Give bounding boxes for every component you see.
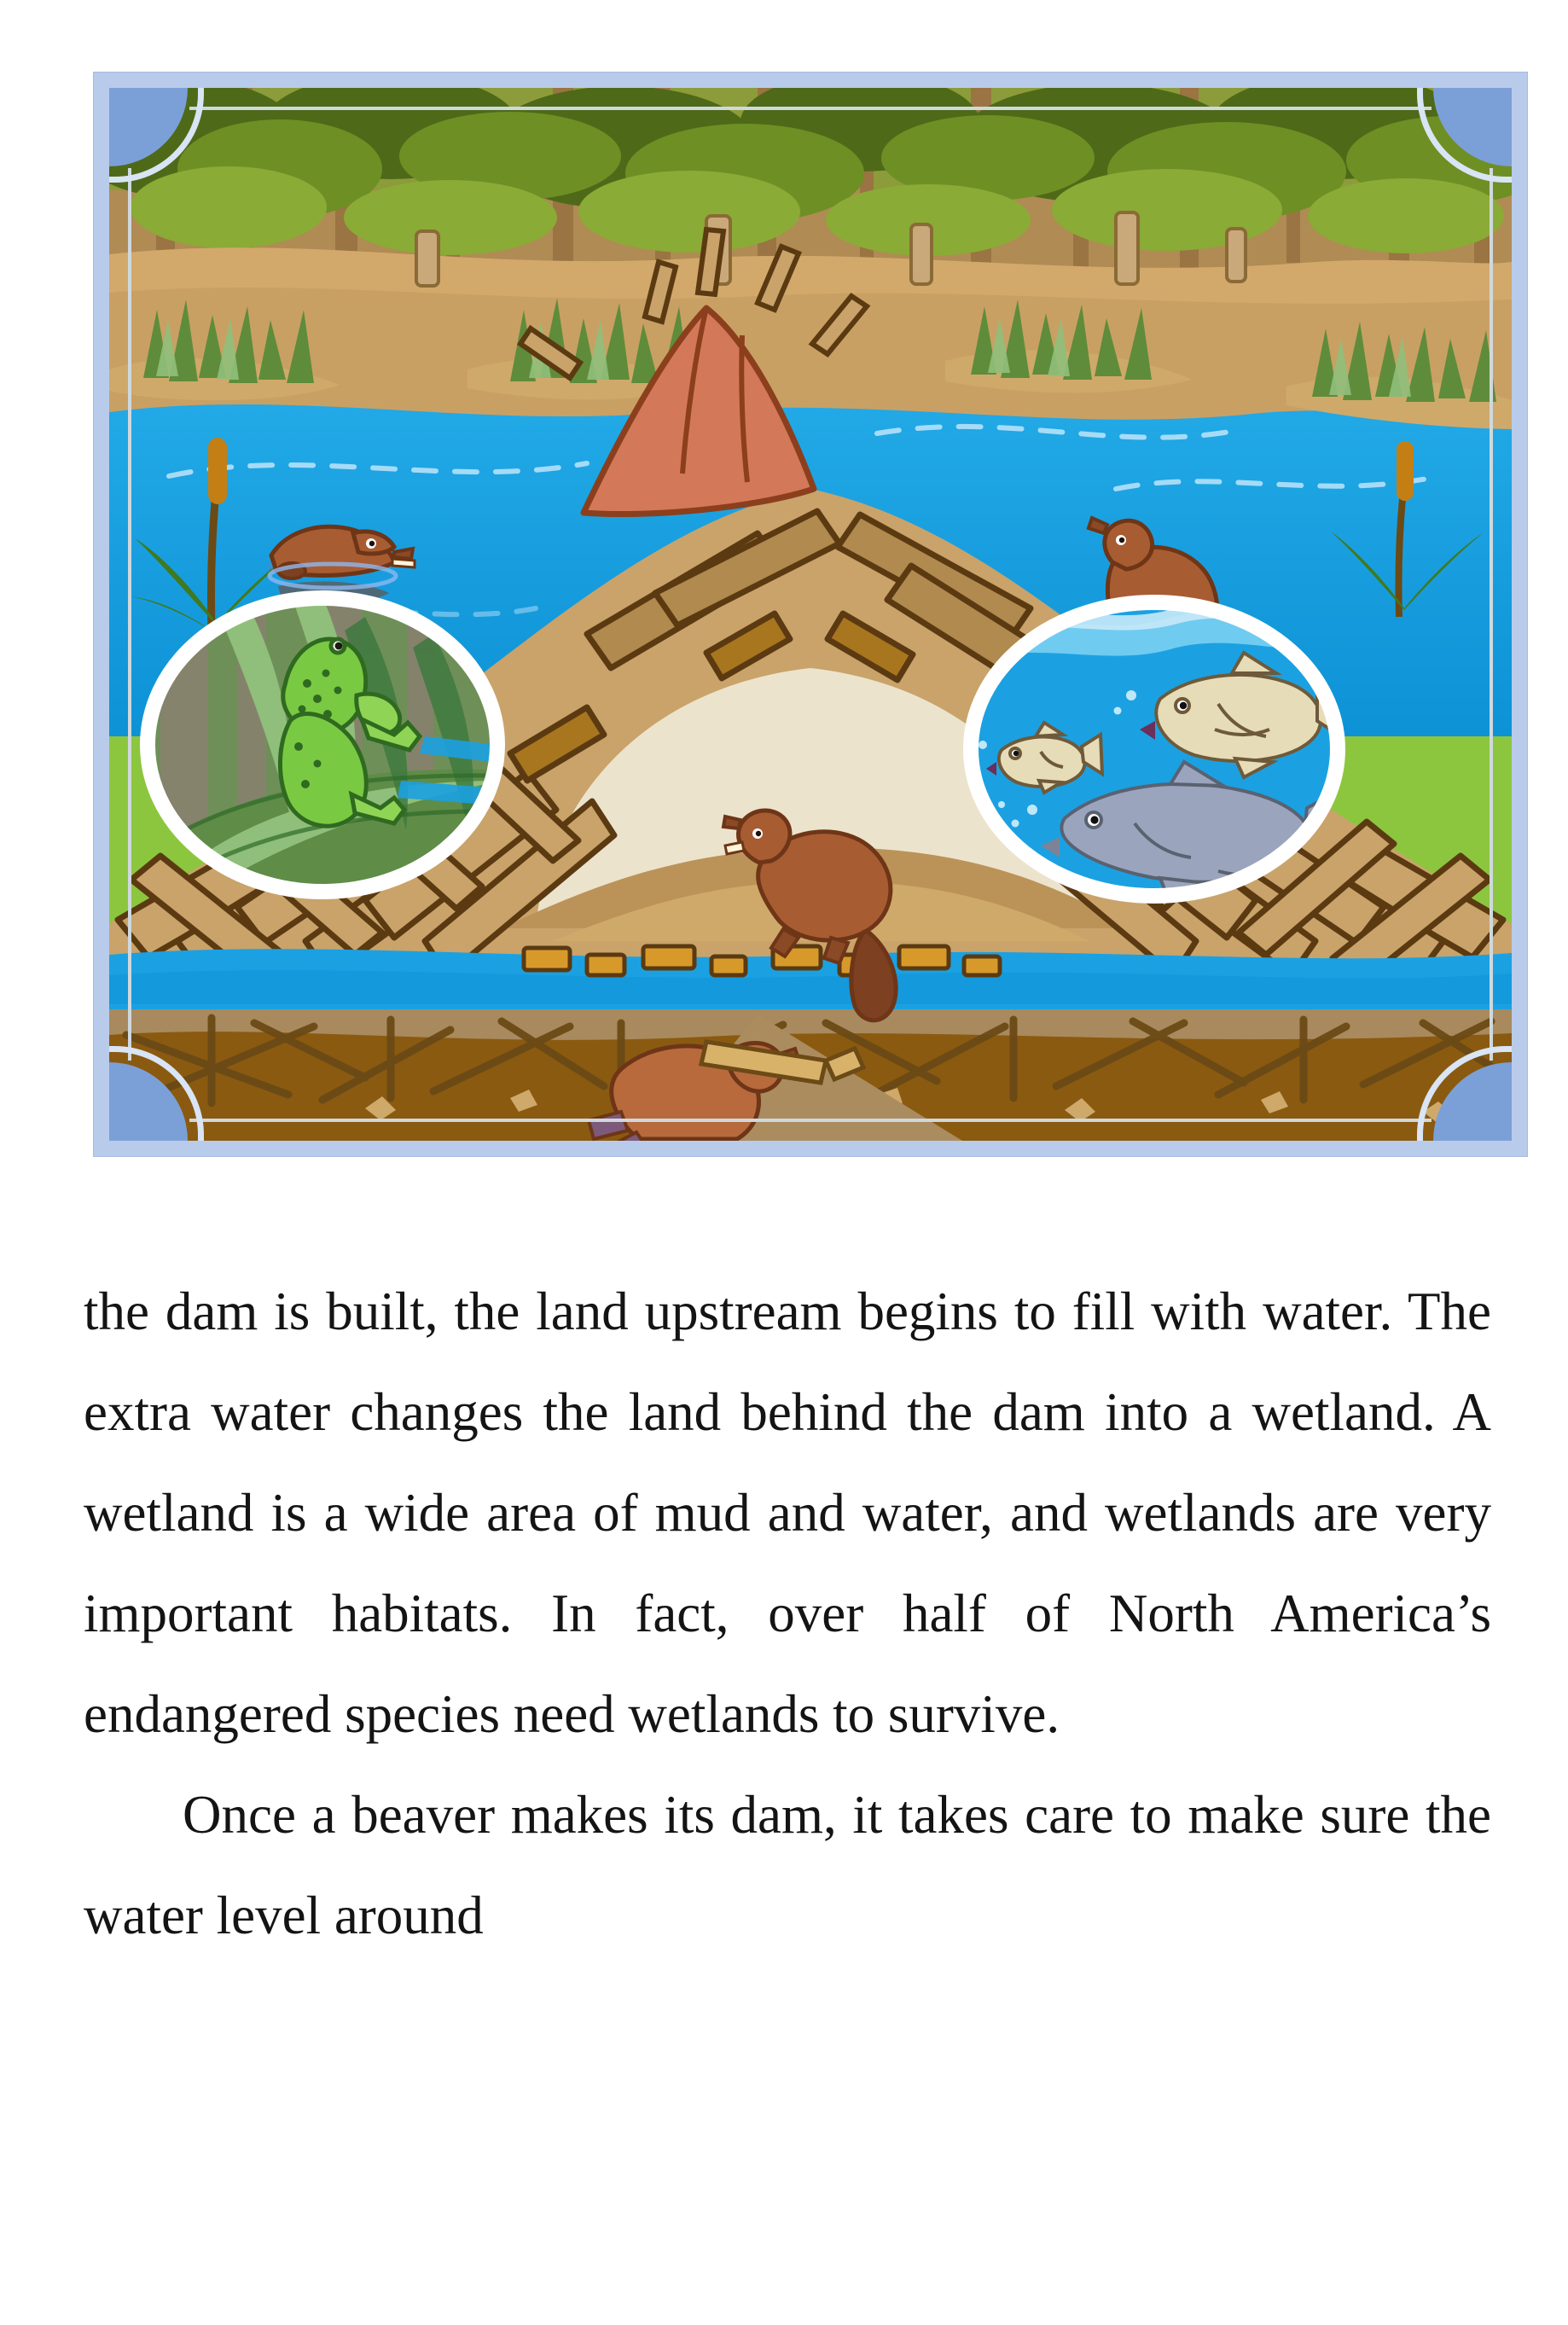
- frame-hairline-top: [189, 107, 1432, 110]
- frame-hairline-bottom: [189, 1119, 1432, 1122]
- beaver-dam-scene: [109, 88, 1512, 1141]
- paragraph-1: the dam is built, the land upstream begi…: [84, 1261, 1491, 1764]
- illustration-figure: [94, 73, 1527, 1156]
- illustration-canvas: [109, 88, 1512, 1141]
- body-text-block: the dam is built, the land upstream begi…: [84, 1261, 1491, 1966]
- frame-hairline-left: [128, 168, 131, 1061]
- frame-hairline-right: [1490, 168, 1493, 1061]
- page-root: the dam is built, the land upstream begi…: [0, 0, 1568, 2325]
- paragraph-2: Once a beaver makes its dam, it takes ca…: [84, 1764, 1491, 1966]
